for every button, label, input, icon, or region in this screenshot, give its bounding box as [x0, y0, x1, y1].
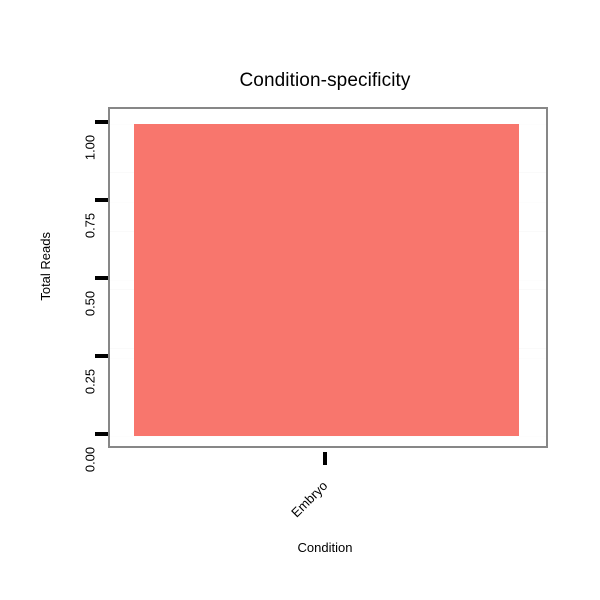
x-axis-title: Condition — [0, 540, 600, 555]
plot-panel — [108, 107, 548, 448]
y-tick-mark-2 — [95, 276, 108, 280]
gridline-major-000 — [110, 436, 546, 437]
y-tick-label-2: 0.50 — [84, 278, 97, 330]
y-tick-label-4: 1.00 — [84, 122, 97, 174]
x-axis-title-text: Condition — [298, 540, 353, 555]
y-tick-mark-1 — [95, 354, 108, 358]
y-tick-mark-3 — [95, 198, 108, 202]
bar-embryo[interactable] — [134, 124, 519, 436]
x-tick-mark-embryo — [323, 452, 327, 465]
y-tick-mark-0 — [95, 432, 108, 436]
y-tick-label-3: 0.75 — [84, 200, 97, 252]
y-tick-label-0: 0.00 — [84, 434, 97, 486]
plot-area — [110, 109, 546, 446]
x-tick-label-embryo: Embryo — [288, 478, 330, 520]
y-tick-mark-4 — [95, 120, 108, 124]
y-axis-title: Total Reads — [38, 232, 53, 301]
chart-title-text: Condition-specificity — [239, 70, 410, 92]
chart-title: Condition-specificity — [0, 70, 600, 92]
chart-figure: Condition-specificity Total Reads 0.00 0… — [0, 0, 600, 600]
y-tick-label-1: 0.25 — [84, 356, 97, 408]
